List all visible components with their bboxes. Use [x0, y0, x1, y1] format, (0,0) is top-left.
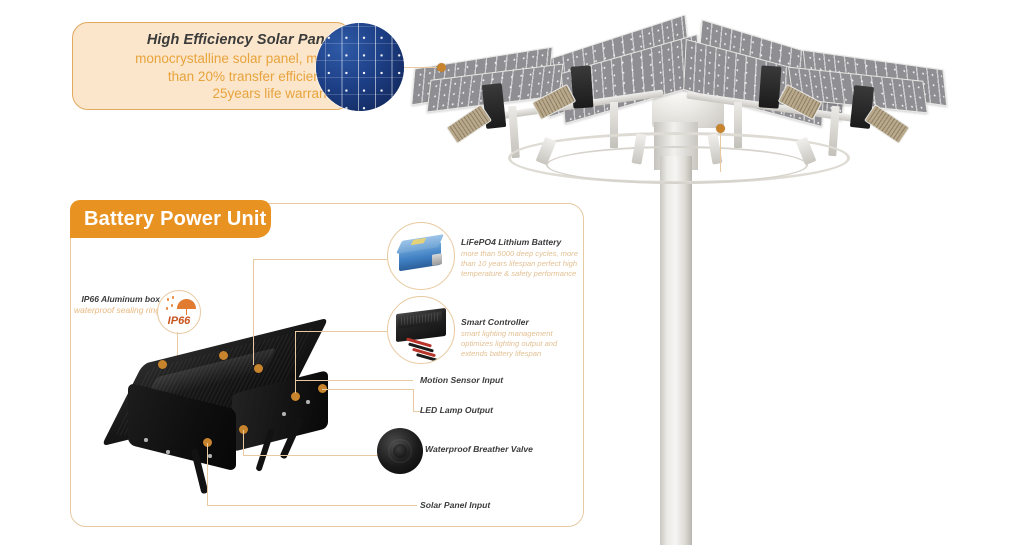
mounting-ring: [546, 146, 808, 184]
leader-line: [243, 455, 379, 456]
leader-marker: [158, 360, 167, 369]
leader-line: [413, 389, 414, 411]
solar-callout-line2: than 20% transfer efficiency,: [83, 68, 337, 86]
leader-line: [295, 380, 296, 393]
infographic-stage: High Efficiency Solar Panel monocrystall…: [0, 0, 1024, 545]
ip66-badge-label: IP66: [158, 315, 200, 327]
solar-panel-callout: High Efficiency Solar Panel monocrystall…: [72, 22, 352, 110]
solar-callout-line3: 25years life warranty: [83, 85, 337, 103]
leader-line: [243, 430, 244, 455]
leader-line: [720, 128, 721, 172]
aluminum-box-icon: [110, 338, 360, 478]
solar-panel-input-label: Solar Panel Input: [420, 500, 490, 510]
breather-valve-icon: [377, 428, 423, 474]
battery-power-unit-title: Battery Power Unit: [70, 200, 271, 238]
battery-power-unit-tab: Battery Power Unit: [70, 200, 271, 238]
leader-line: [322, 389, 414, 390]
smart-controller-title: Smart Controller: [461, 317, 581, 329]
ip66-label: IP66 Aluminum box waterproof sealing rin…: [72, 294, 160, 316]
leader-marker: [219, 351, 228, 360]
lifepo4-battery-body: more than 5000 deep cycles, more than 10…: [461, 249, 581, 279]
smart-controller-body: smart lighting management optimizes ligh…: [461, 329, 581, 359]
leader-marker: [437, 63, 446, 72]
led-lamp-output-label: LED Lamp Output: [420, 405, 493, 415]
leader-line: [295, 380, 413, 381]
leader-line: [253, 259, 387, 260]
lifepo4-battery-title: LiFePO4 Lithium Battery: [461, 237, 581, 249]
leader-marker: [254, 364, 263, 373]
ip66-subtitle: waterproof sealing ring: [72, 305, 160, 316]
battery-pack-icon: [387, 222, 455, 290]
controller-icon: [387, 296, 455, 364]
leader-marker: [291, 392, 300, 401]
leader-line: [207, 505, 417, 506]
ip66-title: IP66 Aluminum box: [72, 294, 160, 305]
leader-line: [295, 331, 387, 332]
waterproof-breather-valve-label: Waterproof Breather Valve: [425, 444, 533, 454]
solar-callout-line1: monocrystalline solar panel, more: [83, 50, 337, 68]
motion-sensor-input-label: Motion Sensor Input: [420, 375, 503, 385]
leader-marker: [716, 124, 725, 133]
umbrella-rain-icon: IP66: [157, 290, 201, 334]
leader-line: [207, 443, 208, 505]
solar-callout-title: High Efficiency Solar Panel: [83, 31, 337, 49]
support-pole: [660, 156, 692, 545]
lifepo4-battery-text: LiFePO4 Lithium Battery more than 5000 d…: [461, 237, 581, 279]
solar-cell-icon: [316, 23, 404, 111]
smart-controller-text: Smart Controller smart lighting manageme…: [461, 317, 581, 359]
leader-line: [253, 259, 254, 365]
led-lamp-fixture: [446, 104, 492, 144]
